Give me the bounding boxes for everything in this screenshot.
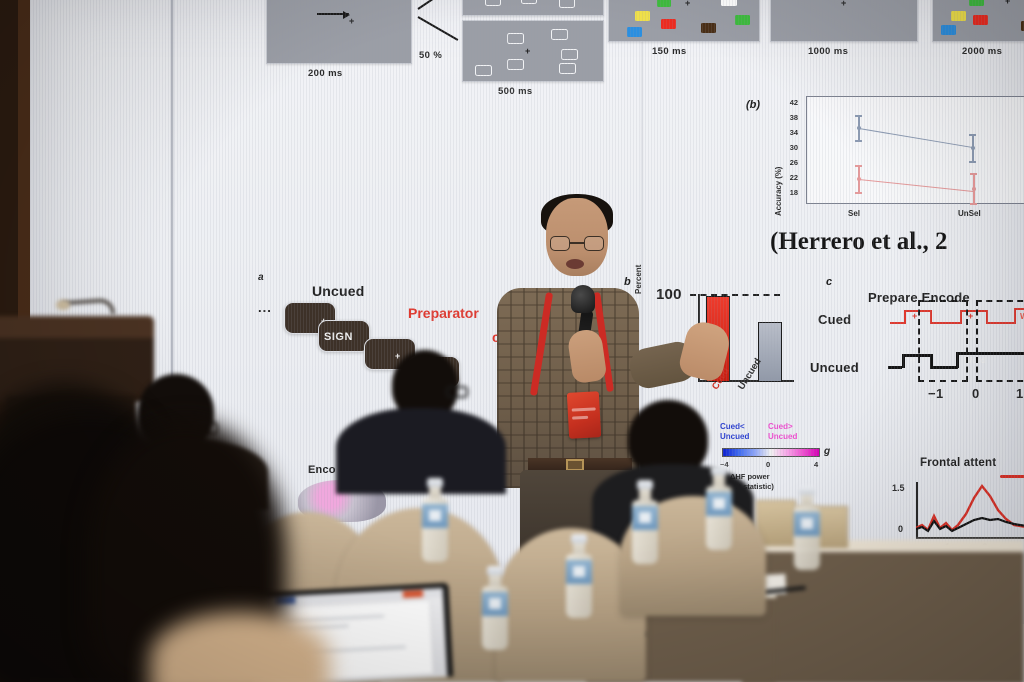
glasses-bridge — [570, 242, 584, 244]
color-item — [657, 0, 671, 7]
fixation-cross: + — [841, 0, 846, 8]
document-text-line — [284, 615, 384, 622]
colorbar-right-label-line1: Cued> — [768, 422, 793, 431]
microphone-capsule-icon — [56, 300, 70, 310]
timeline-xtick: 0 — [972, 386, 980, 401]
conference-photo: + 200 ms 50 % + 500 ms — [0, 0, 1024, 682]
color-item — [941, 25, 956, 35]
frontal-ytick: 0 — [898, 524, 903, 534]
presenter-mouth — [566, 259, 584, 269]
memory-item-outline — [551, 29, 568, 40]
bar-ymax-label: 100 — [656, 286, 682, 303]
panel-label-a-cue: a — [258, 272, 264, 283]
accuracy-line-lower — [859, 179, 975, 193]
accuracy-line-upper — [859, 128, 972, 148]
branch-arrow-up — [417, 0, 451, 10]
sequence-ellipsis: ... — [258, 300, 272, 315]
bar-ylabel: Percent — [634, 265, 643, 294]
eyeglasses-icon — [550, 236, 604, 251]
memory-item-outline — [521, 0, 537, 4]
badge-text-line — [572, 416, 588, 420]
accuracy-datapoint — [857, 126, 861, 130]
fixation-cross: + — [525, 47, 530, 56]
color-item — [701, 23, 716, 33]
panel-label-b-bars: b — [624, 276, 631, 288]
accuracy-errorbar-cap — [970, 173, 977, 175]
bottle-label — [482, 592, 508, 616]
color-item — [735, 15, 750, 25]
sign-label: SIGN — [324, 331, 353, 343]
accuracy-ytick: 34 — [782, 128, 798, 137]
branch-probability: 50 % — [419, 50, 442, 61]
memory-item-outline — [561, 49, 578, 60]
branch-arrow-down — [418, 16, 459, 41]
bar-reference-line — [690, 294, 780, 296]
stimulus-frame-500ms-array: + — [462, 20, 604, 82]
badge-text-line — [572, 407, 596, 411]
accuracy-datapoint — [972, 187, 976, 191]
cue-card-sign: SIGN — [318, 320, 370, 352]
accuracy-ytick: 42 — [782, 98, 798, 107]
color-item — [969, 0, 984, 6]
preparatory-label: Preparator — [408, 305, 479, 321]
encoding-label: Enco — [308, 464, 336, 476]
bottle-label — [632, 506, 658, 530]
stimulus-frame-1000ms-blank: + — [770, 0, 918, 42]
accuracy-datapoint — [971, 146, 975, 150]
citation-herrero: (Herrero et al., 2 — [770, 228, 947, 256]
frontal-timecourse-traces — [916, 478, 1024, 538]
bottle-cap — [711, 466, 727, 475]
frame-duration-1000ms: 1000 ms — [808, 46, 848, 57]
fixation-cross: + — [912, 312, 917, 321]
memory-item-outline — [485, 0, 501, 6]
accuracy-errorbar-cap — [855, 140, 862, 142]
colorbar-tick: 0 — [766, 460, 770, 469]
fixation-cross: + — [1005, 0, 1010, 6]
accuracy-errorbar-cap — [855, 192, 862, 194]
stimulus-frame-upper-array — [462, 0, 604, 16]
colorbar-right-label-line2: Uncued — [768, 432, 797, 441]
accuracy-xtick-sel: Sel — [848, 209, 860, 218]
frame-duration-200ms: 200 ms — [308, 68, 343, 79]
memory-item-outline — [559, 0, 575, 8]
memory-item-outline — [475, 65, 492, 76]
accuracy-errorbar-cap — [969, 161, 976, 163]
accuracy-plot-area — [806, 96, 1024, 204]
uncued-label: Uncued — [312, 283, 365, 299]
accuracy-ytick: 26 — [782, 158, 798, 167]
laptop-tab[interactable] — [403, 590, 423, 598]
stimulus-frame-2000ms-probe: + — [932, 0, 1024, 42]
audience-glasses-icon — [446, 386, 468, 398]
bar-uncued — [758, 322, 782, 382]
frame-duration-150ms: 150 ms — [652, 46, 687, 57]
accuracy-xtick-unsel: UnSel — [958, 209, 981, 218]
bottle-cap — [571, 534, 587, 543]
accuracy-ytick: 18 — [782, 188, 798, 197]
panel-label-b-accuracy: (b) — [746, 99, 760, 111]
audience-shoulders — [336, 408, 506, 494]
frontal-ytick: 1.5 — [892, 483, 905, 493]
color-item — [627, 27, 642, 37]
timeline-xtick: −1 — [928, 386, 944, 401]
timeline-window-2 — [976, 300, 1024, 382]
timeline-row-label-uncued: Uncued — [810, 360, 859, 375]
fixation-cross: + — [349, 17, 354, 26]
accuracy-ytick: 38 — [782, 113, 798, 122]
bottle-label — [422, 504, 448, 528]
colorbar-tick: 4 — [814, 460, 818, 469]
lens-left — [550, 236, 570, 251]
bottle-label — [566, 560, 592, 584]
timeline-window-1 — [918, 300, 968, 382]
memory-item-outline — [559, 63, 576, 74]
stimulus-frame-arrow: + — [266, 0, 412, 64]
frame-duration-2000ms: 2000 ms — [962, 46, 1002, 57]
audience-member-seated — [336, 350, 496, 490]
accuracy-datapoint — [857, 177, 861, 181]
memory-item-outline — [507, 59, 524, 70]
timeline-row-label-cued: Cued — [818, 312, 851, 327]
accuracy-errorbar-cap — [855, 115, 862, 117]
color-item — [973, 15, 988, 25]
bottle-label — [706, 492, 732, 516]
fixation-cross: + — [968, 312, 973, 321]
accuracy-ytick: 22 — [782, 173, 798, 182]
panel-label-c-timeline: c — [826, 276, 832, 288]
lens-right — [584, 236, 604, 251]
memory-item-outline — [507, 33, 524, 44]
bottle-cap — [799, 486, 815, 495]
bottle-label — [794, 512, 820, 536]
accuracy-errorbar-cap — [855, 165, 862, 167]
fixation-cross: + — [910, 356, 915, 365]
panel-label-g-frontal: g — [824, 446, 830, 457]
accuracy-ytick: 30 — [782, 143, 798, 152]
accuracy-errorbar-cap — [970, 203, 977, 205]
timeline-xtick: 1 — [1016, 386, 1024, 401]
cue-arrow-icon — [317, 13, 349, 15]
fixation-cross: + — [685, 0, 690, 8]
bottle-cap — [487, 566, 503, 575]
accuracy-errorbar-cap — [969, 134, 976, 136]
color-item — [951, 11, 966, 21]
frame-duration-500ms: 500 ms — [498, 86, 533, 97]
color-item — [635, 11, 650, 21]
color-item — [721, 0, 737, 6]
microphone-head-icon — [571, 285, 595, 313]
stimulus-frame-150ms-colors: + — [608, 0, 760, 42]
color-item — [661, 19, 676, 29]
audience-table-right — [742, 540, 1024, 682]
bottle-cap — [427, 478, 443, 487]
bottle-cap — [637, 480, 653, 489]
frontal-title: Frontal attent — [920, 457, 996, 469]
